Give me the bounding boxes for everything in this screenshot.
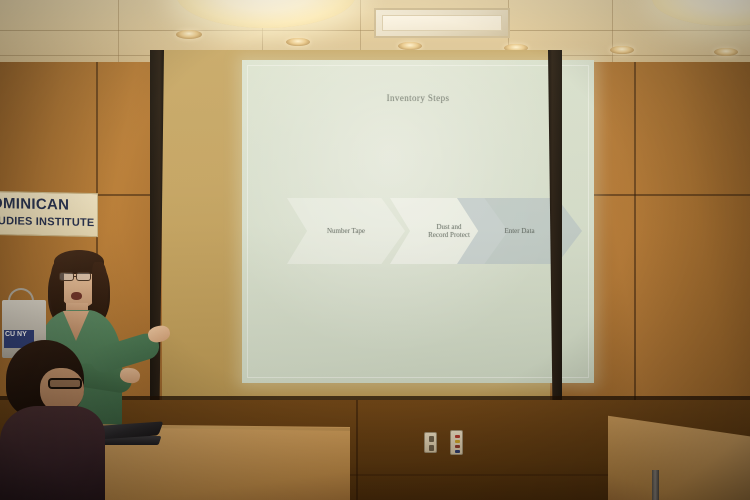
audience-torso <box>0 406 105 500</box>
av-jack-plate <box>450 430 463 455</box>
round-ceiling-light <box>176 0 356 28</box>
recessed-downlight <box>398 42 422 50</box>
screen-surface: Inventory Steps Number Tape Dust and Rec… <box>162 50 550 407</box>
process-step-2-label: Dust and Record Protect <box>428 223 470 240</box>
projection-screen: Inventory Steps Number Tape Dust and Rec… <box>150 50 562 422</box>
right-table-leg <box>652 470 659 500</box>
recessed-downlight <box>286 38 310 46</box>
process-step-1-label: Number Tape <box>327 227 365 235</box>
process-step-3-label: Enter Data <box>504 227 534 235</box>
presenter-mouth <box>71 292 82 300</box>
process-step-2-line2: Record Protect <box>428 231 470 239</box>
banner-line-1: OMINICAN <box>0 195 98 215</box>
presentation-room-photo: Inventory Steps Number Tape Dust and Rec… <box>0 0 750 500</box>
dominican-studies-institute-banner: OMINICAN TUDIES INSTITUTE <box>0 191 98 237</box>
projected-slide: Inventory Steps Number Tape Dust and Rec… <box>242 60 594 383</box>
banner-line-2: TUDIES INSTITUTE <box>0 215 98 230</box>
presenter-glasses-bridge <box>74 276 77 277</box>
recessed-downlight <box>176 30 202 39</box>
round-ceiling-light <box>652 0 750 26</box>
presenter-glasses-right-lens <box>76 272 91 281</box>
recessed-downlight <box>610 46 634 54</box>
power-outlet <box>424 432 437 453</box>
tote-bag-logo-text: CU NY <box>5 331 33 339</box>
audience-glasses <box>48 378 82 389</box>
slide-title: Inventory Steps <box>242 93 594 103</box>
recessed-downlight <box>714 48 738 56</box>
ceiling-vent-panel <box>374 8 510 38</box>
presenter-glasses-left-lens <box>59 272 74 281</box>
process-step-2-line1: Dust and <box>436 223 461 231</box>
seated-audience-member <box>0 340 110 500</box>
